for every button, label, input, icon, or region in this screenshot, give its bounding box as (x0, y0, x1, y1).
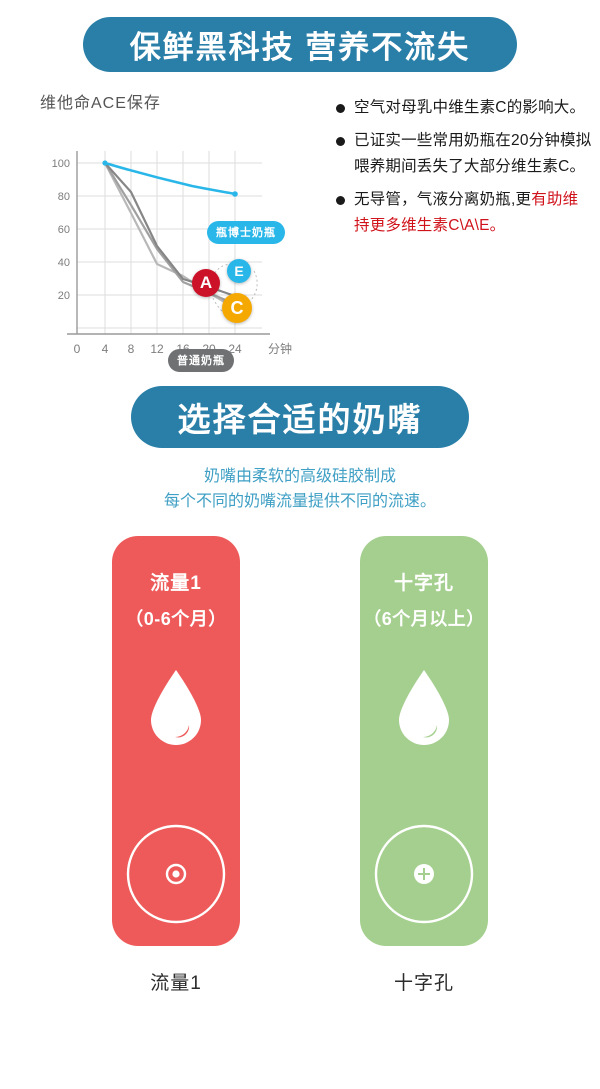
vitamin-info-section: 维他命ACE保存 (0, 89, 600, 366)
chart-y-ticks: 100 80 60 40 20 (52, 158, 70, 302)
nipple-subtitle-line2: 每个不同的奶嘴流量提供不同的流速。 (0, 489, 600, 514)
nipple-subtitle-line1: 奶嘴由柔软的高级硅胶制成 (0, 464, 600, 489)
series-dr-bottle-endpoint (232, 191, 238, 197)
nipple-card-cross-column: 十字孔 （6个月以上） 十字孔 (360, 536, 488, 995)
headline-banner-nipple-text: 选择合适的奶嘴 (178, 393, 423, 441)
bullet-text: 已证实一些常用奶瓶在20分钟模拟喂养期间丢失了大部分维生素C。 (354, 128, 592, 180)
vitamin-chart-block: 维他命ACE保存 (22, 89, 322, 366)
vitamin-badge-e: E (227, 259, 251, 283)
bullet-item: 无导管，气液分离奶瓶,更有助维持更多维生素C\A\E。 (336, 187, 592, 239)
headline-banner-nipple: 选择合适的奶嘴 (131, 386, 469, 448)
nipple-subtitle: 奶嘴由柔软的高级硅胶制成 每个不同的奶嘴流量提供不同的流速。 (0, 464, 600, 514)
vitamin-badge-c: C (222, 293, 252, 323)
nipple-card-list: 流量1 （0-6个月） 流量1 十字孔 （6个月以上） (0, 536, 600, 995)
svg-text:4: 4 (102, 342, 109, 356)
svg-text:100: 100 (52, 158, 70, 170)
bullet-text-mixed: 无导管，气液分离奶瓶,更有助维持更多维生素C\A\E。 (354, 187, 592, 239)
bullet-dot-icon (336, 104, 345, 113)
cross-hole-icon (373, 823, 475, 930)
bullet-dot-icon (336, 196, 345, 205)
bullet-list: 空气对母乳中维生素C的影响大。 已证实一些常用奶瓶在20分钟模拟喂养期间丢失了大… (322, 89, 592, 366)
nipple-card-title: 十字孔 (394, 568, 454, 595)
chart-label-ordinary-bottle: 普通奶瓶 (168, 349, 234, 372)
chart-label-dr-bottle: 瓶博士奶瓶 (207, 221, 285, 244)
chart-title: 维他命ACE保存 (40, 89, 322, 113)
single-hole-icon (125, 823, 227, 930)
svg-text:20: 20 (58, 290, 70, 302)
headline-banner-text: 保鲜黑科技 营养不流失 (130, 22, 471, 67)
nipple-card-flow1[interactable]: 流量1 （0-6个月） (112, 536, 240, 946)
svg-text:0: 0 (74, 342, 81, 356)
nipple-card-subtitle: （6个月以上） (363, 605, 485, 631)
droplet-icon (393, 667, 455, 754)
series-dr-bottle (105, 163, 235, 194)
headline-banner-preservation: 保鲜黑科技 营养不流失 (83, 17, 517, 72)
svg-text:60: 60 (58, 224, 70, 236)
bullet-text: 空气对母乳中维生素C的影响大。 (354, 95, 585, 121)
nipple-card-subtitle: （0-6个月） (125, 605, 227, 631)
nipple-card-title: 流量1 (150, 568, 202, 595)
vitamin-badge-a: A (192, 269, 220, 297)
nipple-card-caption: 十字孔 (360, 968, 488, 995)
bullet-item: 已证实一些常用奶瓶在20分钟模拟喂养期间丢失了大部分维生素C。 (336, 128, 592, 180)
nipple-card-flow1-column: 流量1 （0-6个月） 流量1 (112, 536, 240, 995)
bullet-text-lead: 无导管，气液分离奶瓶, (354, 191, 516, 208)
bullet-item: 空气对母乳中维生素C的影响大。 (336, 95, 592, 121)
nipple-card-cross[interactable]: 十字孔 （6个月以上） (360, 536, 488, 946)
bullet-text-plain: 更 (516, 191, 532, 208)
droplet-icon (145, 667, 207, 754)
bullet-dot-icon (336, 137, 345, 146)
svg-text:分钟: 分钟 (268, 341, 292, 356)
svg-text:80: 80 (58, 191, 70, 203)
nipple-card-caption: 流量1 (112, 968, 240, 995)
svg-text:8: 8 (128, 342, 135, 356)
svg-text:12: 12 (150, 342, 164, 356)
vitamin-retention-chart: 100 80 60 40 20 0 4 8 12 16 20 24 分钟 (22, 121, 317, 366)
series-dr-bottle-startpoint (102, 160, 107, 165)
svg-text:40: 40 (58, 257, 70, 269)
